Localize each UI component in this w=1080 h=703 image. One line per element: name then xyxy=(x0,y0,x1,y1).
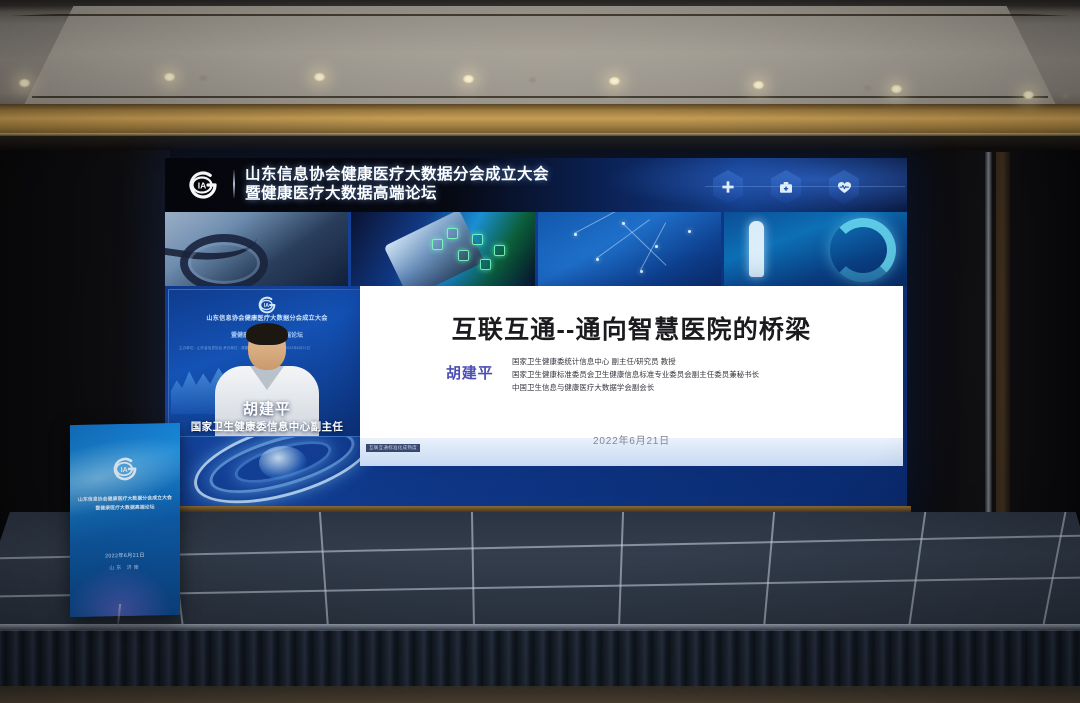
slide-speaker-name: 胡建平 xyxy=(446,362,493,383)
ceiling-panel xyxy=(22,6,1059,110)
smartphone-apps-photo xyxy=(351,212,534,286)
slide-overlay-tag: 互联互通标准化成熟度 xyxy=(366,444,420,452)
photo-strip-row xyxy=(165,212,907,286)
downlight xyxy=(1022,90,1035,100)
credential-line: 中国卫生信息与健康医疗大数据学会副会长 xyxy=(512,381,759,394)
downlight-dim xyxy=(198,74,209,82)
banner-bottom-glow xyxy=(70,557,180,617)
rollup-banner: IA 山东信息协会健康医疗大数据分会成立大会 暨健康医疗大数据高端论坛 2022… xyxy=(70,423,180,617)
human-body-data-photo xyxy=(724,212,907,286)
pillar-light-strip xyxy=(985,152,992,550)
sia-logo-icon: IA xyxy=(185,167,221,203)
slide-title: 互联互通--通向智慧医院的桥梁 xyxy=(360,310,903,346)
conference-hall-photo: IA 山东信息协会健康医疗大数据分会成立大会 暨健康医疗大数据高端论坛 xyxy=(0,0,1080,703)
svg-text:IA: IA xyxy=(198,181,207,191)
downlight-dim xyxy=(527,76,538,84)
banner-title: 山东信息协会健康医疗大数据分会成立大会 暨健康医疗大数据高端论坛 xyxy=(70,495,180,515)
conference-title: 山东信息协会健康医疗大数据分会成立大会 暨健康医疗大数据高端论坛 xyxy=(245,166,549,204)
stage-skirt xyxy=(0,630,1080,693)
ceiling-trim-line xyxy=(32,96,1047,98)
sia-logo-icon: IA xyxy=(256,294,278,316)
header-divider xyxy=(233,170,235,198)
first-aid-kit-icon xyxy=(771,170,801,204)
credential-line: 国家卫生健康标准委员会卫生健康信息标准专业委员会副主任委员兼秘书长 xyxy=(512,368,759,381)
video-speaker-role: 国家卫生健康委信息中心副主任 xyxy=(169,419,365,434)
wall-right xyxy=(905,150,1080,550)
stethoscope-photo xyxy=(165,212,348,286)
svg-text:IA: IA xyxy=(121,466,128,474)
data-swirl-graphic xyxy=(830,218,896,282)
downlight xyxy=(462,74,475,84)
slide-bottom-shade xyxy=(360,438,903,466)
downlight-dim xyxy=(862,84,873,92)
heart-pulse-icon xyxy=(829,170,859,204)
speaker-hair xyxy=(246,323,288,345)
downlight xyxy=(313,72,326,82)
video-speaker-name: 胡建平 xyxy=(169,398,365,419)
ceiling-gold-band xyxy=(0,104,1080,138)
speaker-video-panel: IA 山东信息协会健康医疗大数据分会成立大会 暨健康医疗大数据高端论坛 主办单位… xyxy=(168,289,366,437)
conference-title-line1: 山东信息协会健康医疗大数据分会成立大会 xyxy=(245,166,549,185)
downlight xyxy=(752,80,765,90)
slide-credentials: 国家卫生健康委统计信息中心 副主任/研究员 教授 国家卫生健康标准委员会卫生健康… xyxy=(512,355,759,395)
presentation-slide: 互联互通--通向智慧医院的桥梁 胡建平 国家卫生健康委统计信息中心 副主任/研究… xyxy=(360,286,903,466)
downlight-dim xyxy=(1060,92,1071,100)
downlight xyxy=(890,84,903,94)
floor-carpet xyxy=(0,686,1080,703)
downlight xyxy=(608,76,621,86)
medical-icon-row xyxy=(705,164,905,208)
ceiling-trim-line xyxy=(11,14,1069,16)
conference-title-line2: 暨健康医疗大数据高端论坛 xyxy=(245,185,549,204)
network-graph-photo xyxy=(538,212,721,286)
downlight xyxy=(18,78,31,88)
ceiling xyxy=(0,0,1080,150)
human-body-silhouette xyxy=(749,221,764,277)
pillar-wood-column xyxy=(996,152,1010,550)
sia-logo-icon: IA xyxy=(110,454,140,485)
downlight xyxy=(163,72,176,82)
led-header-bar: IA 山东信息协会健康医疗大数据分会成立大会 暨健康医疗大数据高端论坛 xyxy=(165,158,907,212)
credential-line: 国家卫生健康委统计信息中心 副主任/研究员 教授 xyxy=(512,355,759,368)
medical-cross-icon xyxy=(713,170,743,204)
led-screen: IA 山东信息协会健康医疗大数据分会成立大会 暨健康医疗大数据高端论坛 xyxy=(165,158,907,510)
svg-text:IA: IA xyxy=(264,303,269,309)
